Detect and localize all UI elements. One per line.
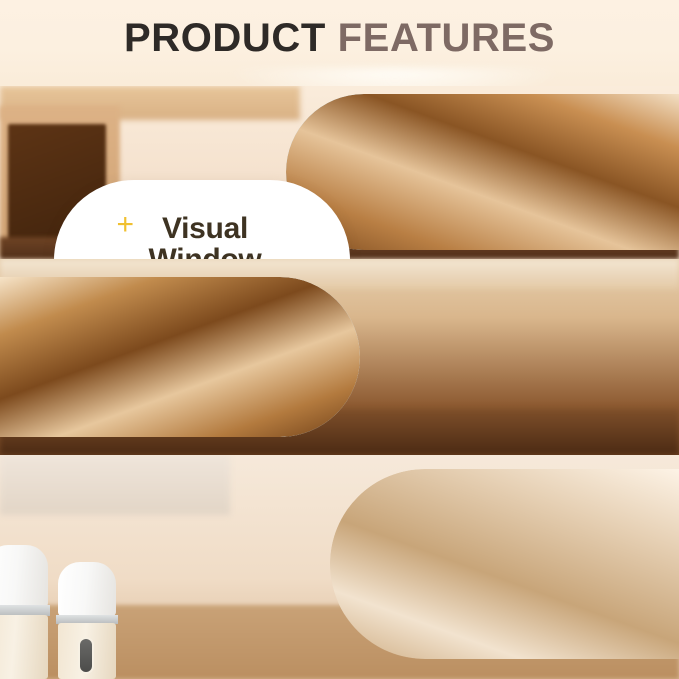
- feature-row-concave-convex: +Concave convex Concave-convex Card Slot…: [0, 259, 679, 455]
- page-title-secondary: FEATURES: [338, 16, 555, 60]
- clear-bottle: [210, 313, 286, 437]
- photo1-content: [286, 94, 679, 250]
- lotion-pump-head: [560, 495, 650, 619]
- pump-base: [400, 565, 480, 619]
- pump-stem: [588, 535, 604, 577]
- photo2-content: [0, 277, 360, 437]
- page-title-primary: PRODUCT: [124, 16, 326, 60]
- bottle-neck-ring: [96, 307, 156, 312]
- page-title-space: [326, 16, 338, 60]
- feature-row-visual-window: +Visual Window Side window design: [0, 86, 679, 259]
- bottle-cap: [58, 562, 116, 616]
- poster-header: PRODUCT FEATURES: [0, 0, 679, 86]
- feature-photo-concave-convex: [0, 277, 360, 437]
- bottle-neck: [206, 285, 264, 317]
- feature-headline-text: Visual Window: [149, 212, 262, 259]
- page-title: PRODUCT FEATURES: [0, 18, 679, 58]
- pump-nozzle: [390, 495, 488, 543]
- spray-pump-head: [390, 495, 490, 619]
- feature-card-visual-window: +Visual Window Side window design: [54, 180, 350, 259]
- pump-nozzle: [568, 495, 644, 539]
- bottle-cap: [0, 545, 48, 607]
- feature-headline: +Visual Window: [149, 214, 262, 259]
- pump-base: [570, 565, 650, 619]
- feature-photo-visual-window: [286, 94, 679, 250]
- plus-icon: +: [117, 210, 134, 240]
- feature-photo-press-pump-head: [330, 469, 679, 659]
- bottle-collar-highlight: [362, 97, 580, 104]
- row3-wall: [0, 455, 230, 515]
- photo3-content: [330, 469, 679, 659]
- photo3-desk-edge: [330, 615, 679, 659]
- foreground-bottle: [0, 545, 48, 679]
- bottle-body: [0, 615, 48, 679]
- bottle-neck-ring: [204, 307, 266, 312]
- side-window-slot: [534, 152, 560, 238]
- product-features-poster: PRODUCT FEATURES +Visual Window Si: [0, 0, 679, 679]
- foreground-bottle: [58, 562, 116, 679]
- clear-bottle: [96, 309, 158, 437]
- side-window-slot: [80, 639, 92, 672]
